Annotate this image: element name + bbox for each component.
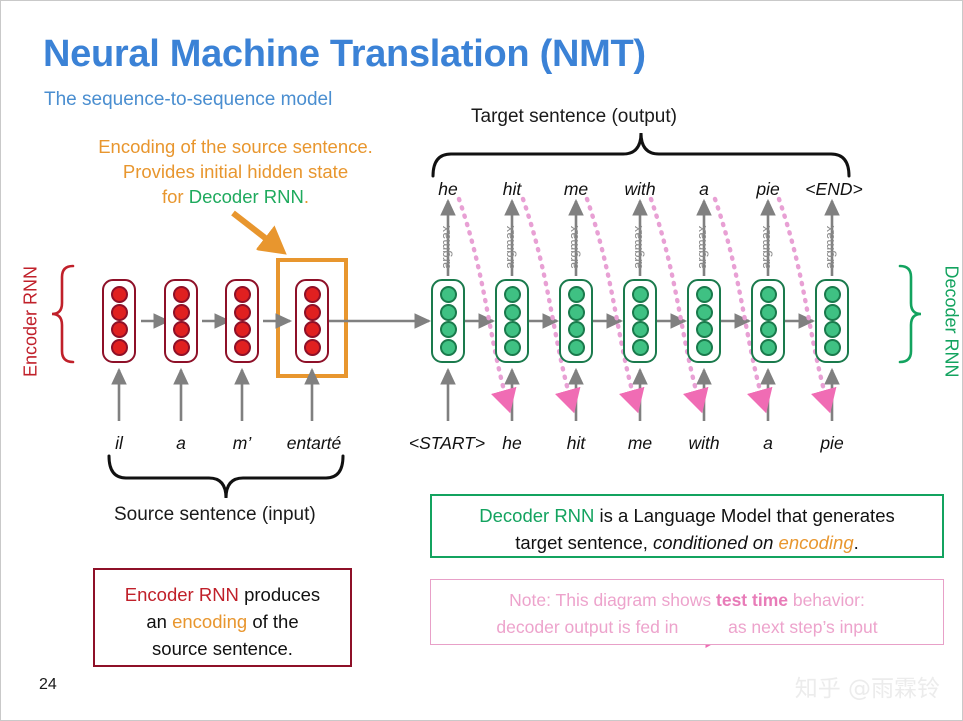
source-sentence-label: Source sentence (input) (114, 504, 316, 526)
encoder-input-word-3: entarté (287, 433, 341, 454)
encoding-annotation-line1: Encoding of the source sentence. (63, 134, 408, 159)
encoder-callout-line2: an encoding of the (95, 608, 350, 635)
encoder-unit (304, 339, 321, 356)
encoder-cell-0[interactable] (102, 279, 136, 363)
decoder-output-word-1: hit (503, 179, 521, 200)
encoder-unit (111, 304, 128, 321)
argmax-label-5: argmax (758, 226, 773, 269)
note-test-time: test time (716, 590, 788, 610)
watermark: 知乎 @雨霖铃 (795, 669, 940, 703)
test-time-note-callout: Note: This diagram shows test time behav… (430, 579, 944, 645)
decoder-output-word-3: with (624, 179, 655, 200)
decoder-unit (440, 339, 457, 356)
argmax-label-4: argmax (694, 226, 709, 269)
encoder-unit (173, 321, 190, 338)
decoder-unit (824, 321, 841, 338)
decoder-output-word-6: <END> (805, 179, 862, 200)
decoder-input-word-4: with (688, 433, 719, 454)
encoder-cell-3[interactable] (295, 279, 329, 363)
decoder-callout-text1: is a Language Model that generates (594, 505, 894, 526)
encoder-input-word-1: a (176, 433, 186, 454)
encoder-unit (234, 304, 251, 321)
decoder-input-word-2: hit (567, 433, 585, 454)
encoder-unit (111, 339, 128, 356)
encoder-unit (304, 304, 321, 321)
decoder-unit (504, 286, 521, 303)
decoder-unit (696, 304, 713, 321)
note-text3: decoder output is fed in (496, 617, 683, 637)
encoder-input-word-0: il (115, 433, 123, 454)
target-sentence-brace (433, 133, 849, 176)
encoder-rnn-brace (52, 266, 73, 362)
decoder-unit (440, 286, 457, 303)
encoder-rnn-side-label: Encoder RNN (21, 262, 42, 382)
decoder-unit (760, 321, 777, 338)
encoder-callout-line1: Encoder RNN produces (95, 581, 350, 608)
decoder-unit (760, 304, 777, 321)
decoder-unit (504, 339, 521, 356)
note-text2: behavior: (788, 590, 865, 610)
decoder-unit (824, 304, 841, 321)
encoder-callout-text3: of the (247, 611, 298, 632)
decoder-unit (632, 339, 649, 356)
encoding-annotation-period: . (304, 186, 309, 207)
decoder-cell-4[interactable] (687, 279, 721, 363)
encoder-input-word-2: m’ (233, 433, 251, 454)
argmax-label-3: argmax (630, 226, 645, 269)
decoder-unit (632, 286, 649, 303)
encoder-unit (234, 286, 251, 303)
decoder-unit (568, 304, 585, 321)
argmax-label-6: argmax (822, 226, 837, 269)
decoder-cell-1[interactable] (495, 279, 529, 363)
encoding-annotation-line3: for Decoder RNN. (63, 184, 408, 209)
decoder-cell-3[interactable] (623, 279, 657, 363)
decoder-output-word-5: pie (756, 179, 779, 200)
encoding-annotation-line2: Provides initial hidden state (63, 159, 408, 184)
decoder-cell-5[interactable] (751, 279, 785, 363)
decoder-cell-2[interactable] (559, 279, 593, 363)
encoder-callout-line3: source sentence. (95, 635, 350, 662)
note-line2: decoder output is fed in as next step’s … (431, 614, 943, 641)
decoder-unit (504, 304, 521, 321)
encoder-cell-1[interactable] (164, 279, 198, 363)
decoder-callout-encoding: encoding (779, 532, 854, 553)
page-number: 24 (39, 676, 57, 694)
decoder-cell-0[interactable] (431, 279, 465, 363)
decoder-output-word-4: a (699, 179, 709, 200)
decoder-unit (824, 339, 841, 356)
decoder-input-arrows (448, 370, 832, 421)
decoder-unit (568, 286, 585, 303)
decoder-input-word-5: a (763, 433, 773, 454)
encoder-unit (173, 286, 190, 303)
decoder-callout-conditioned: conditioned on (653, 532, 779, 553)
encoder-callout-encoding: encoding (172, 611, 247, 632)
decoder-unit (568, 339, 585, 356)
decoder-unit (440, 304, 457, 321)
decoder-unit (632, 321, 649, 338)
encoding-annotation-decoder-rnn: Decoder RNN (189, 186, 304, 207)
note-line1: Note: This diagram shows test time behav… (431, 587, 943, 614)
decoder-unit (632, 304, 649, 321)
source-sentence-brace (109, 456, 343, 498)
encoder-callout-text2: an (146, 611, 172, 632)
decoder-unit (568, 321, 585, 338)
decoder-output-word-0: he (438, 179, 457, 200)
decoder-callout-text2: target sentence, (515, 532, 653, 553)
decoder-callout-line1: Decoder RNN is a Language Model that gen… (432, 502, 942, 529)
decoder-unit (760, 286, 777, 303)
page-subtitle: The sequence-to-sequence model (44, 89, 332, 111)
encoder-input-arrows (119, 370, 312, 421)
page-title: Neural Machine Translation (NMT) (43, 33, 646, 76)
argmax-label-1: argmax (502, 226, 517, 269)
decoder-unit (504, 321, 521, 338)
encoding-pointer-arrow (233, 213, 282, 251)
encoder-unit (234, 321, 251, 338)
encoder-unit (304, 286, 321, 303)
decoder-input-word-3: me (628, 433, 652, 454)
decoder-input-word-6: pie (820, 433, 843, 454)
encoding-annotation-for: for (162, 186, 189, 207)
encoder-unit (234, 339, 251, 356)
decoder-input-word-1: he (502, 433, 521, 454)
encoder-cell-2[interactable] (225, 279, 259, 363)
decoder-callout-period: . (854, 532, 859, 553)
encoder-callout-text1: produces (239, 584, 320, 605)
decoder-input-word-0: <START> (409, 433, 485, 454)
decoder-rnn-side-label: Decoder RNN (941, 257, 962, 387)
encoder-unit (173, 339, 190, 356)
note-text4: as next step’s input (723, 617, 877, 637)
decoder-callout-line2: target sentence, conditioned on encoding… (432, 529, 942, 556)
encoding-annotation: Encoding of the source sentence. Provide… (63, 134, 408, 209)
argmax-label-2: argmax (566, 226, 581, 269)
decoder-rnn-brace (900, 266, 921, 362)
decoder-output-word-2: me (564, 179, 588, 200)
encoder-unit (304, 321, 321, 338)
decoder-rnn-callout: Decoder RNN is a Language Model that gen… (430, 494, 944, 558)
argmax-label-0: argmax (438, 226, 453, 269)
encoder-callout-term: Encoder RNN (125, 584, 239, 605)
encoder-unit (111, 286, 128, 303)
decoder-unit (440, 321, 457, 338)
slide-canvas: Neural Machine Translation (NMT) The seq… (0, 0, 963, 721)
encoder-unit (173, 304, 190, 321)
decoder-unit (696, 339, 713, 356)
decoder-unit (696, 321, 713, 338)
decoder-unit (824, 286, 841, 303)
target-sentence-label: Target sentence (output) (471, 106, 677, 128)
decoder-callout-term: Decoder RNN (479, 505, 594, 526)
note-text1: Note: This diagram shows (509, 590, 716, 610)
decoder-unit (760, 339, 777, 356)
encoder-unit (111, 321, 128, 338)
encoder-rnn-callout: Encoder RNN produces an encoding of the … (93, 568, 352, 667)
decoder-unit (696, 286, 713, 303)
decoder-cell-6[interactable] (815, 279, 849, 363)
